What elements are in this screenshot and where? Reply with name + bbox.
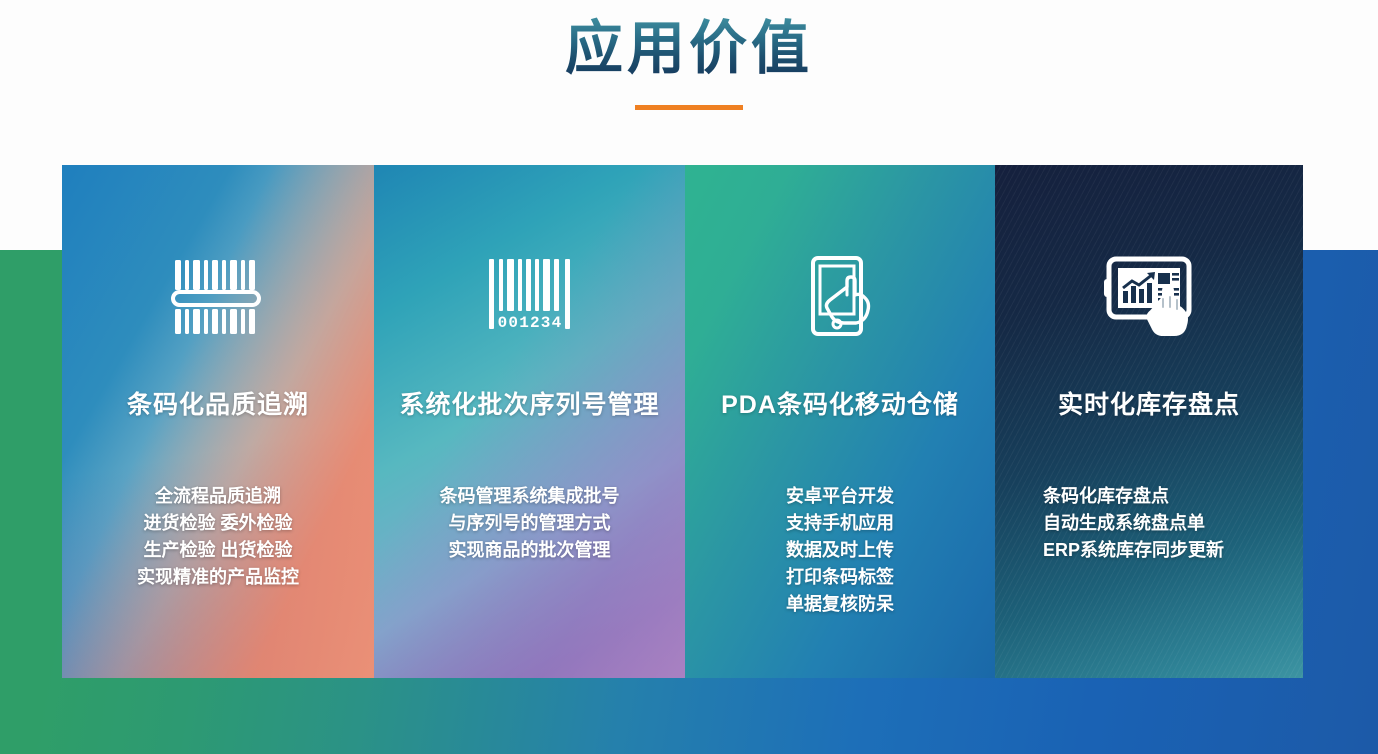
title-underline-rule	[635, 105, 743, 110]
card-body: 条码管理系统集成批号 与序列号的管理方式 实现商品的批次管理	[374, 483, 685, 564]
card-body-line: 实现商品的批次管理	[418, 537, 641, 564]
card-body: 全流程品质追溯 进货检验 委外检验 生产检验 出货检验 实现精准的产品监控	[62, 483, 374, 591]
card-body-line: 支持手机应用	[761, 510, 919, 537]
card-body-line: 进货检验 委外检验	[118, 510, 318, 537]
card-body-line: 安卓平台开发	[761, 483, 919, 510]
card-body: 条码化库存盘点 自动生成系统盘点单 ERP系统库存同步更新	[995, 483, 1303, 564]
value-card-batch-serial-management[interactable]: 001234 系统化批次序列号管理 条码管理系统集成批号 与序列号的管理方式 实…	[374, 165, 685, 678]
card-body-line: ERP系统库存同步更新	[1043, 537, 1255, 564]
barcode-number-icon: 001234	[487, 257, 573, 337]
card-body-line: 打印条码标签	[761, 564, 919, 591]
page-title: 应用价值	[565, 16, 813, 83]
page-header: 应用价值	[0, 0, 1378, 150]
value-card-pda-mobile-warehouse[interactable]: PDA条码化移动仓储 安卓平台开发 支持手机应用 数据及时上传 打印条码标签 单…	[685, 165, 995, 678]
value-card-barcode-quality-trace[interactable]: 条码化品质追溯 全流程品质追溯 进货检验 委外检验 生产检验 出货检验 实现精准…	[62, 165, 374, 678]
value-card-realtime-inventory-count[interactable]: 实时化库存盘点 条码化库存盘点 自动生成系统盘点单 ERP系统库存同步更新	[995, 165, 1303, 678]
barcode-digits: 001234	[497, 314, 562, 332]
card-body-line: 条码管理系统集成批号	[418, 483, 641, 510]
card-title: 实时化库存盘点	[1058, 385, 1240, 421]
card-body-line: 生产检验 出货检验	[118, 537, 318, 564]
card-title: PDA条码化移动仓储	[721, 385, 959, 421]
value-cards-row: 条码化品质追溯 全流程品质追溯 进货检验 委外检验 生产检验 出货检验 实现精准…	[62, 165, 1303, 678]
card-body-line: 自动生成系统盘点单	[1043, 510, 1255, 537]
card-body: 安卓平台开发 支持手机应用 数据及时上传 打印条码标签 单据复核防呆	[685, 483, 995, 618]
tablet-touch-icon	[800, 257, 880, 337]
card-body-line: 单据复核防呆	[761, 591, 919, 618]
card-body-line: 全流程品质追溯	[118, 483, 318, 510]
card-body-line: 数据及时上传	[761, 537, 919, 564]
card-title: 系统化批次序列号管理	[399, 385, 659, 421]
card-body-line: 与序列号的管理方式	[418, 510, 641, 537]
barcode-scanner-icon	[171, 257, 265, 337]
card-body-line: 条码化库存盘点	[1043, 483, 1255, 510]
card-body-line: 实现精准的产品监控	[118, 564, 318, 591]
card-title: 条码化品质追溯	[127, 385, 309, 421]
tablet-dashboard-touch-icon	[1101, 257, 1197, 337]
